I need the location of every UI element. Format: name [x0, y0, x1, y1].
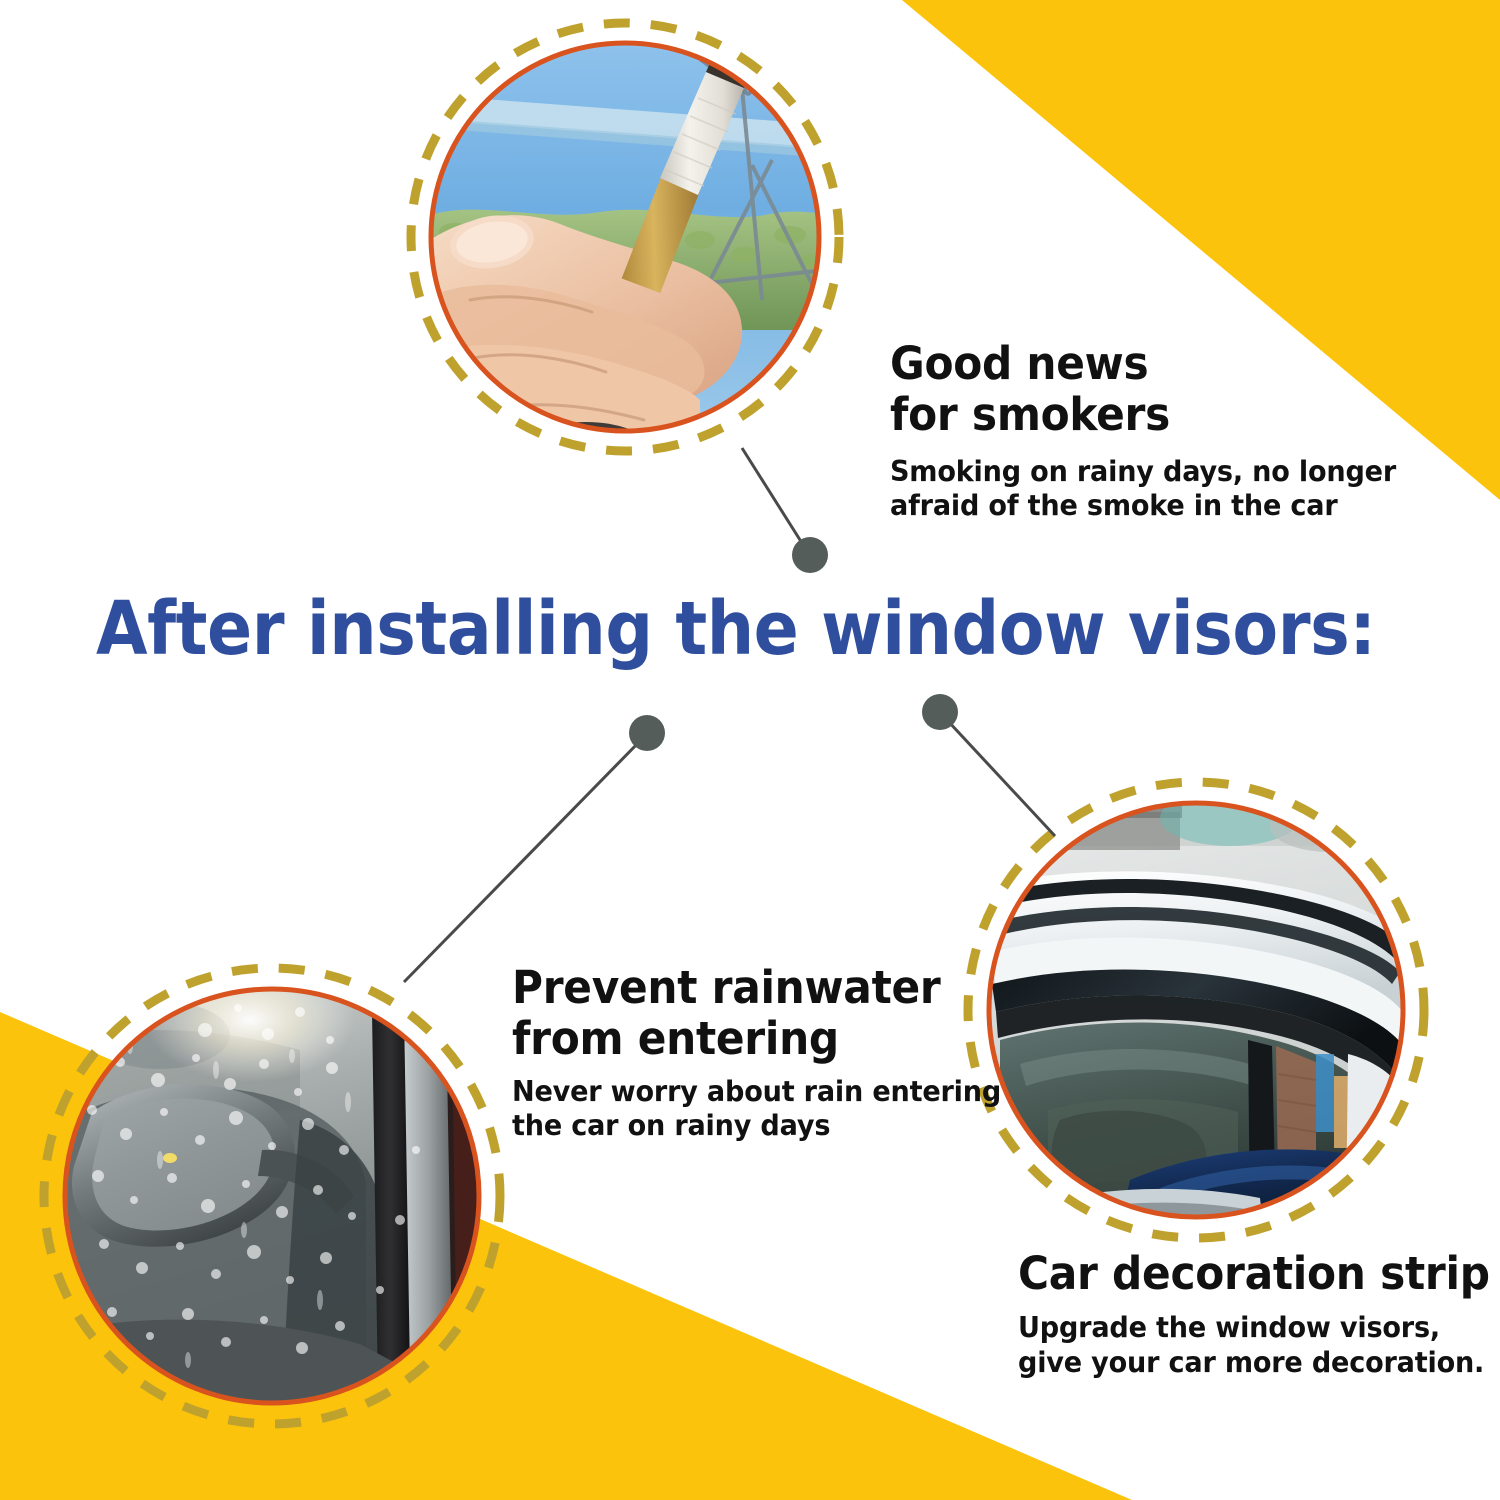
connector-line-rainwater	[404, 740, 641, 982]
feature-desc-decoration: Upgrade the window visors, give your car…	[1018, 1311, 1495, 1381]
feature-desc-smokers-line2: afraid of the smoke in the car	[890, 489, 1396, 524]
connector-line-decoration	[947, 720, 1055, 836]
feature-desc-rainwater-line1: Never worry about rain entering	[512, 1075, 1001, 1110]
feature-block-rainwater: Prevent rainwater from entering Never wo…	[512, 962, 1027, 1144]
feature-desc-decoration-line1: Upgrade the window visors,	[1018, 1311, 1495, 1346]
feature-desc-rainwater: Never worry about rain entering the car …	[512, 1075, 1001, 1145]
feature-desc-decoration-line2: give your car more decoration.	[1018, 1346, 1495, 1381]
infographic-canvas: After installing the window visors: Good…	[0, 0, 1500, 1500]
feature-title-decoration: Car decoration strip	[1018, 1248, 1490, 1299]
feature-title-smokers: Good news for smokers	[890, 338, 1391, 441]
feature-block-decoration: Car decoration strip Upgrade the window …	[1018, 1248, 1500, 1381]
feature-desc-smokers: Smoking on rainy days, no longer afraid …	[890, 455, 1396, 525]
feature-desc-smokers-line1: Smoking on rainy days, no longer	[890, 455, 1396, 490]
connector-line-smokers	[742, 448, 807, 551]
page-headline: After installing the window visors:	[96, 592, 1376, 667]
feature-desc-rainwater-line2: the car on rainy days	[512, 1109, 1001, 1144]
feature-title-decoration-line1: Car decoration strip	[1018, 1248, 1490, 1299]
feature-block-smokers: Good news for smokers Smoking on rainy d…	[890, 338, 1423, 524]
feature-title-smokers-line1: Good news	[890, 338, 1391, 389]
connector-dot-smokers	[792, 537, 828, 573]
connector-dot-rainwater	[629, 715, 665, 751]
feature-title-smokers-line2: for smokers	[890, 389, 1391, 440]
feature-title-rainwater-line1: Prevent rainwater	[512, 962, 996, 1013]
feature-title-rainwater: Prevent rainwater from entering	[512, 962, 996, 1065]
connector-dot-decoration	[922, 694, 958, 730]
feature-title-rainwater-line2: from entering	[512, 1013, 996, 1064]
